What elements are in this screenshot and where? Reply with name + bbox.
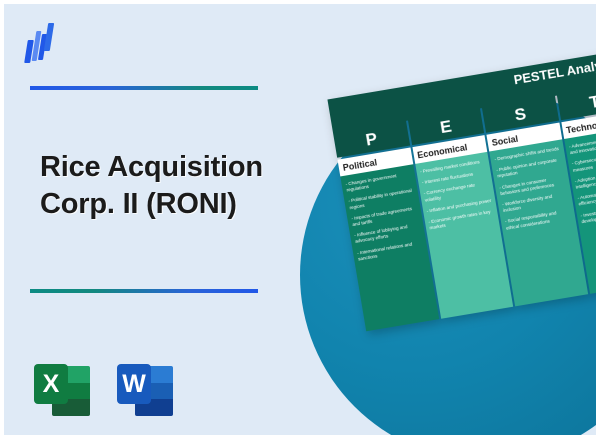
company-logo	[24, 23, 60, 63]
word-icon-letter: W	[117, 364, 151, 404]
slide-content: Rice Acquisition Corp. II (RONI) X W PES…	[4, 4, 596, 435]
word-icon[interactable]: W	[117, 364, 173, 418]
page-title: Rice Acquisition Corp. II (RONI)	[40, 149, 300, 223]
office-icons-group: X W	[34, 364, 173, 418]
list-item: - Advancements in technology and innovat…	[569, 134, 596, 157]
divider-top	[30, 86, 258, 90]
excel-icon[interactable]: X	[34, 364, 90, 418]
logo-bar-4	[44, 23, 54, 51]
slide-canvas: Rice Acquisition Corp. II (RONI) X W PES…	[0, 0, 600, 439]
pestel-analysis-table: PESTEL Analysis P E S T Political - Chan…	[327, 50, 596, 331]
divider-bottom	[30, 289, 258, 293]
excel-icon-letter: X	[34, 364, 68, 404]
